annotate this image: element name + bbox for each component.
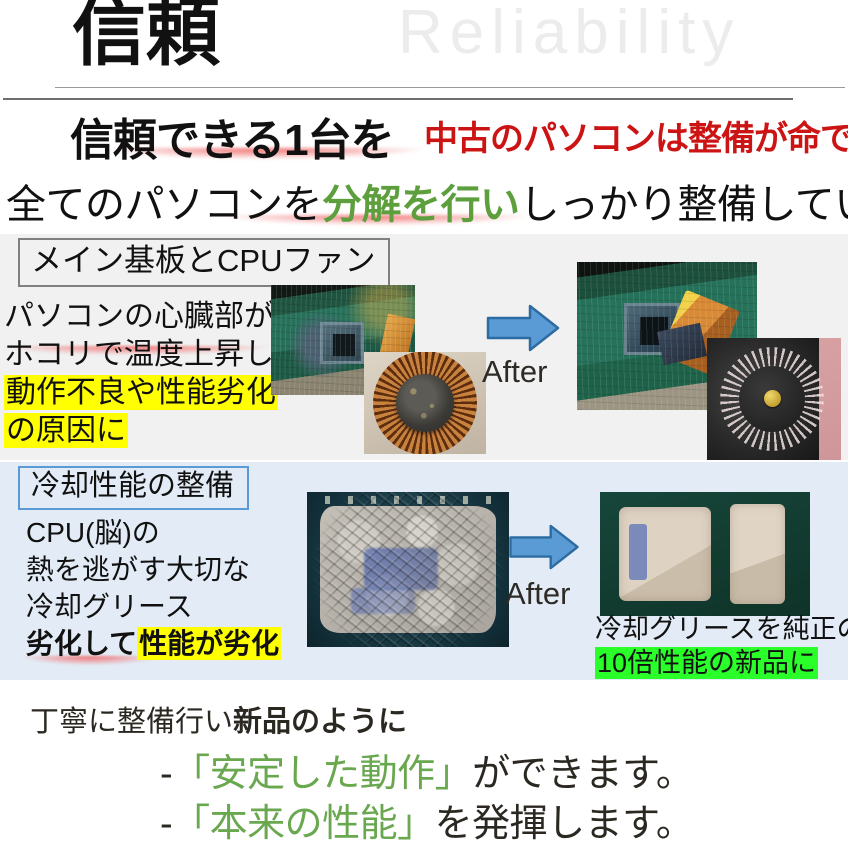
section-two-line-4-highlight: 性能が劣化 bbox=[137, 627, 281, 660]
fan-center-screw bbox=[764, 390, 781, 407]
section-two-body: CPU(脳)の 熱を逃がす大切な 冷却グリース 劣化して性能が劣化 bbox=[26, 514, 281, 662]
header: 信頼 Reliability bbox=[0, 0, 848, 100]
section-one-line-4: の原因に bbox=[4, 413, 128, 448]
subtitle-row: 信頼できる1台を 中古のパソコンは整備が命です。 bbox=[0, 104, 848, 166]
conclusion-line-2-dash: - bbox=[160, 753, 172, 795]
section-two-line-1: CPU(脳)の bbox=[26, 514, 281, 551]
conclusion-line-3: -「本来の性能」を発揮します。 bbox=[160, 792, 693, 847]
paste-pad-small bbox=[730, 504, 785, 603]
conclusion-line-2: -「安定した動作」ができます。 bbox=[160, 742, 693, 797]
watermark-title: Reliability bbox=[398, 2, 740, 64]
section-two-caption: 冷却グリースを純正の 10倍性能の新品に bbox=[595, 612, 848, 680]
degraded-thermal-paste-photo bbox=[307, 492, 509, 647]
lead-part2: しっかり整備しています。 bbox=[520, 183, 848, 227]
subtitle-main: 信頼できる1台を bbox=[70, 104, 394, 168]
lead-sentence: 全てのパソコンを分解を行いしっかり整備しています。 bbox=[6, 172, 848, 230]
paste-substrate-edge bbox=[629, 524, 647, 580]
paste-texture bbox=[307, 492, 509, 647]
conclusion-section: 丁寧に整備行い新品のように -「安定した動作」ができます。 -「本来の性能」を発… bbox=[0, 684, 848, 848]
conclusion-line-1-bold: 新品のように bbox=[233, 706, 407, 738]
section-two-line-3: 冷却グリース bbox=[26, 588, 281, 625]
section-one-badge: メイン基板とCPUファン bbox=[18, 238, 390, 287]
section-two-line-4-plain: 劣化して bbox=[26, 628, 137, 659]
dusty-cpu-fan-photo bbox=[364, 352, 486, 454]
section-two-caption-line-1: 冷却グリースを純正の bbox=[595, 612, 848, 646]
section-one-body: パソコンの心臓部が ホコリで温度上昇し 動作不良や性能劣化 の原因に bbox=[4, 298, 278, 450]
paste-pad-large bbox=[619, 507, 711, 601]
section-one-line-1: パソコンの心臓部が bbox=[4, 298, 278, 336]
infographic-page: 信頼 Reliability 信頼できる1台を 中古のパソコンは整備が命です。 … bbox=[0, 0, 848, 848]
section-two-caption-line-2: 10倍性能の新品に bbox=[595, 647, 818, 679]
conclusion-line-2-green: 「安定した動作」 bbox=[172, 753, 472, 795]
section-one-after-label: After bbox=[482, 354, 547, 390]
conclusion-line-3-dash: - bbox=[160, 803, 172, 845]
conclusion-line-1: 丁寧に整備行い新品のように bbox=[30, 698, 407, 740]
conclusion-line-2-rest: ができます。 bbox=[472, 753, 693, 795]
section-one-line-3: 動作不良や性能劣化 bbox=[4, 375, 278, 410]
subtitle-emphasis: 中古のパソコンは整備が命です。 bbox=[424, 111, 848, 160]
lead-highlight: 分解を行い bbox=[322, 183, 520, 227]
page-title: 信頼 bbox=[72, 0, 220, 70]
lead-row: 全てのパソコンを分解を行いしっかり整備しています。 bbox=[0, 172, 848, 230]
conclusion-line-1-plain: 丁寧に整備行い bbox=[30, 706, 233, 738]
section-two-after-label: After bbox=[505, 576, 570, 612]
divider-top bbox=[55, 87, 845, 88]
conclusion-line-3-green: 「本来の性能」 bbox=[172, 803, 435, 845]
lead-part1: 全てのパソコンを bbox=[6, 183, 322, 227]
arrow-right-icon bbox=[486, 304, 560, 352]
fan-hub-dust bbox=[396, 374, 454, 432]
section-one-line-2: ホコリで温度上昇し bbox=[4, 336, 278, 374]
arrow-right-icon-2 bbox=[508, 524, 580, 570]
fresh-thermal-paste-photo bbox=[600, 492, 810, 616]
clean-cpu-fan-photo bbox=[707, 338, 841, 460]
conclusion-line-3-rest: を発揮します。 bbox=[435, 803, 694, 845]
section-two-badge: 冷却性能の整備 bbox=[18, 466, 249, 510]
divider-bottom bbox=[3, 98, 793, 100]
section-two-line-2: 熱を逃がす大切な bbox=[26, 551, 281, 588]
